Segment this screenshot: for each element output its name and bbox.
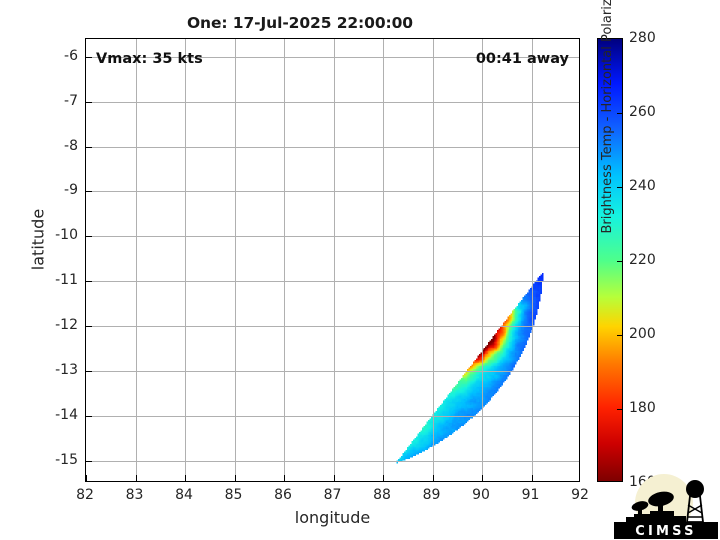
x-axis-label: longitude xyxy=(85,508,580,527)
y-tick xyxy=(86,281,92,282)
colorbar-tick xyxy=(617,113,622,114)
x-tick xyxy=(334,475,335,481)
y-tick-label: -6 xyxy=(64,48,78,64)
y-tick-label: -7 xyxy=(64,93,78,109)
colorbar-tick-label: 200 xyxy=(629,326,656,342)
brightness-temperature-heatmap xyxy=(86,39,580,482)
colorbar-tick-label: 260 xyxy=(629,104,656,120)
y-tick xyxy=(86,102,92,103)
x-tick-label: 88 xyxy=(373,487,391,503)
colorbar-tick-label: 180 xyxy=(629,400,656,416)
y-tick-label: -14 xyxy=(55,407,78,423)
vmax-annotation: Vmax: 35 kts xyxy=(96,51,203,67)
x-tick xyxy=(433,475,434,481)
x-tick-label: 90 xyxy=(472,487,490,503)
x-tick-label: 87 xyxy=(324,487,342,503)
y-tick xyxy=(86,191,92,192)
y-tick xyxy=(86,57,92,58)
x-tick-label: 91 xyxy=(522,487,540,503)
x-tick xyxy=(136,475,137,481)
colorbar-tick xyxy=(617,187,622,188)
cimss-logo: CIMSS xyxy=(614,467,718,539)
colorbar-label: Brightness Temp - Horizontal Polarizatio… xyxy=(600,0,615,260)
y-tick-label: -11 xyxy=(55,272,78,288)
y-tick-label: -15 xyxy=(55,452,78,468)
x-tick-label: 86 xyxy=(274,487,292,503)
x-tick-label: 85 xyxy=(225,487,243,503)
y-axis-label: latitude xyxy=(29,180,48,300)
x-tick-label: 82 xyxy=(76,487,94,503)
x-tick xyxy=(482,475,483,481)
x-tick-label: 89 xyxy=(423,487,441,503)
colorbar-tick-label: 280 xyxy=(629,30,656,46)
y-tick-label: -13 xyxy=(55,362,78,378)
colorbar-tick-label: 220 xyxy=(629,252,656,268)
x-tick-label: 92 xyxy=(571,487,589,503)
x-tick xyxy=(86,475,87,481)
x-tick xyxy=(383,475,384,481)
y-tick-label: -9 xyxy=(64,182,78,198)
x-tick xyxy=(284,475,285,481)
y-tick-label: -10 xyxy=(55,227,78,243)
x-tick xyxy=(532,475,533,481)
logo-text: CIMSS xyxy=(635,524,696,539)
time-away-annotation: 00:41 away xyxy=(476,51,569,67)
colorbar-tick-label: 240 xyxy=(629,178,656,194)
colorbar-tick xyxy=(617,261,622,262)
y-tick xyxy=(86,326,92,327)
y-tick xyxy=(86,416,92,417)
y-tick xyxy=(86,461,92,462)
page-title: One: 17-Jul-2025 22:00:00 xyxy=(0,14,600,32)
y-tick xyxy=(86,371,92,372)
y-tick xyxy=(86,236,92,237)
colorbar-tick xyxy=(617,335,622,336)
plot-axes: Vmax: 35 kts 00:41 away xyxy=(85,38,580,482)
y-tick xyxy=(86,147,92,148)
colorbar-tick xyxy=(617,409,622,410)
y-tick-label: -8 xyxy=(64,138,78,154)
x-tick-label: 84 xyxy=(175,487,193,503)
x-tick xyxy=(235,475,236,481)
x-tick-label: 83 xyxy=(126,487,144,503)
x-tick xyxy=(185,475,186,481)
y-tick-label: -12 xyxy=(55,317,78,333)
